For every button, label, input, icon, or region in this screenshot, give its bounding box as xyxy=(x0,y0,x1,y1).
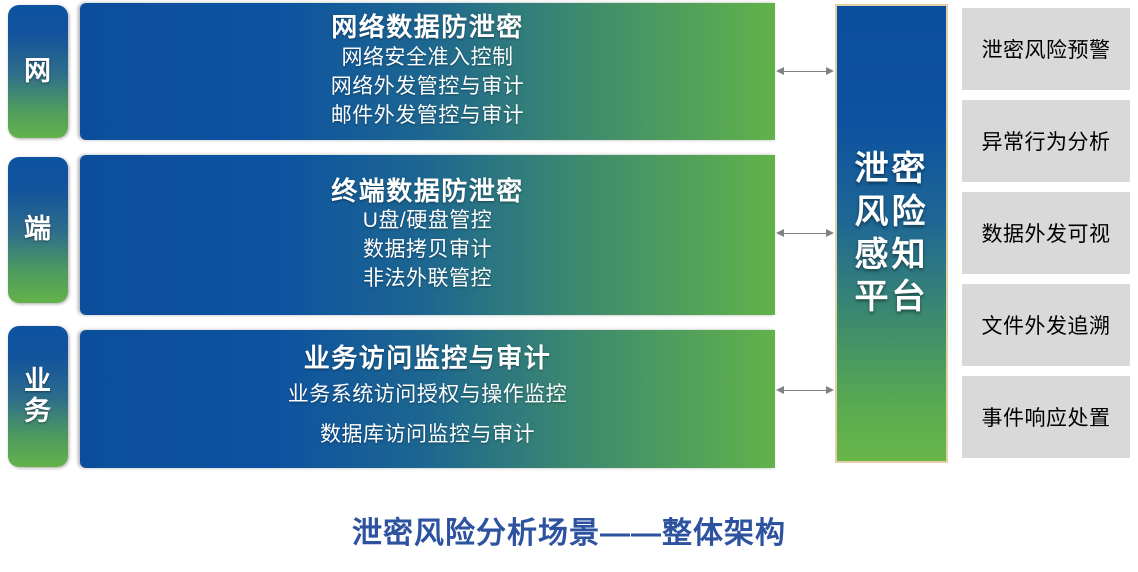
layer-title: 终端数据防泄密 xyxy=(331,176,524,208)
capability-box-anomaly-analysis: 异常行为分析 xyxy=(962,100,1130,182)
capability-label: 事件响应处置 xyxy=(982,402,1111,432)
capability-label: 异常行为分析 xyxy=(982,126,1111,156)
connector-line xyxy=(782,71,828,72)
layer-bar-network: 网络数据防泄密 网络安全准入控制 网络外发管控与审计 邮件外发管控与审计 xyxy=(80,3,775,140)
layer-bar-business: 业务访问监控与审计 业务系统访问授权与操作监控 数据库访问监控与审计 xyxy=(80,330,775,468)
layer-title: 网络数据防泄密 xyxy=(331,12,524,44)
arrow-right-icon xyxy=(826,386,834,394)
side-label-text: 网 xyxy=(24,57,52,86)
risk-awareness-platform: 泄密 风险 感知 平台 xyxy=(835,4,948,463)
arrow-right-icon xyxy=(826,67,834,75)
layer-line: U盘/硬盘管控 xyxy=(363,207,493,236)
capability-box-risk-alert: 泄密风险预警 xyxy=(962,8,1130,90)
capability-label: 泄密风险预警 xyxy=(982,34,1111,64)
connector-arrow-endpoint xyxy=(776,228,834,239)
layer-title: 业务访问监控与审计 xyxy=(304,343,552,375)
side-label-text: 业 务 xyxy=(24,367,52,425)
side-label-business: 业 务 xyxy=(8,326,68,467)
arrow-right-icon xyxy=(826,229,834,237)
layer-line: 数据库访问监控与审计 xyxy=(320,415,535,455)
layer-line: 数据拷贝审计 xyxy=(363,236,492,265)
connector-line xyxy=(782,233,828,234)
side-label-text: 端 xyxy=(24,215,52,244)
layer-line: 邮件外发管控与审计 xyxy=(331,102,525,131)
layer-line: 网络安全准入控制 xyxy=(342,44,514,73)
platform-label: 泄密 风险 感知 平台 xyxy=(855,148,929,319)
capability-box-data-egress-visibility: 数据外发可视 xyxy=(962,192,1130,274)
architecture-diagram: 网 端 业 务 网络数据防泄密 网络安全准入控制 网络外发管控与审计 邮件外发管… xyxy=(0,0,1138,572)
capability-label: 文件外发追溯 xyxy=(982,310,1111,340)
capability-box-file-egress-tracing: 文件外发追溯 xyxy=(962,284,1130,366)
layer-line: 非法外联管控 xyxy=(363,265,492,294)
arrow-left-icon xyxy=(776,67,784,75)
layer-line: 网络外发管控与审计 xyxy=(331,73,525,102)
side-label-endpoint: 端 xyxy=(8,157,68,303)
side-label-network: 网 xyxy=(8,5,68,138)
layer-bar-endpoint: 终端数据防泄密 U盘/硬盘管控 数据拷贝审计 非法外联管控 xyxy=(80,155,775,315)
connector-arrow-business xyxy=(776,385,834,396)
connector-line xyxy=(782,390,828,391)
arrow-left-icon xyxy=(776,229,784,237)
diagram-caption: 泄密风险分析场景——整体架构 xyxy=(0,508,1138,552)
capability-label: 数据外发可视 xyxy=(982,218,1111,248)
arrow-left-icon xyxy=(776,386,784,394)
capability-box-incident-response: 事件响应处置 xyxy=(962,376,1130,458)
layer-line: 业务系统访问授权与操作监控 xyxy=(288,375,568,415)
connector-arrow-network xyxy=(776,66,834,77)
